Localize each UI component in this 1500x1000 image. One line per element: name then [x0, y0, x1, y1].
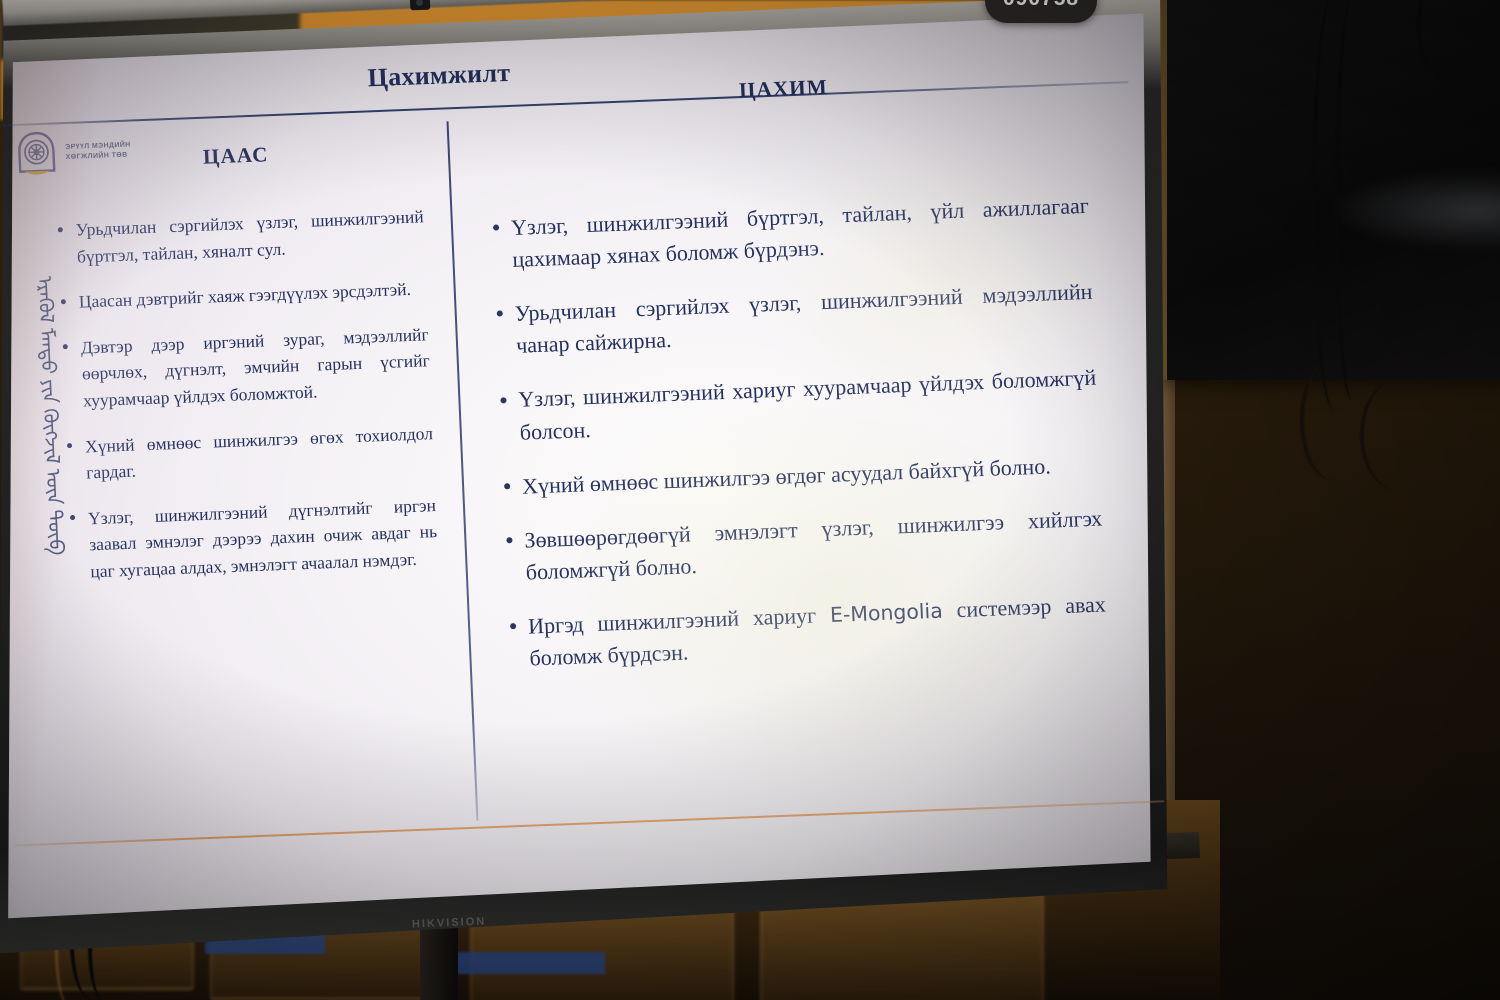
list-item: Зөвшөөрөгдөөгүй эмнэлэгт үзлэг, шинжилгэ…	[502, 502, 1104, 589]
footer-divider	[15, 800, 1164, 846]
list-item: Урьдчилан сэргийлэх үзлэг, шинжилгээний …	[53, 203, 425, 270]
secondary-monitor	[1160, 0, 1500, 380]
column-divider	[447, 121, 479, 820]
list-item: Урьдчилан сэргийлэх үзлэг, шинжилгээний …	[492, 276, 1094, 363]
list-item: Иргэд шинжилгээний хариуг E-Mongolia сис…	[506, 588, 1108, 675]
cable	[1300, 360, 1364, 480]
list-item: Хүний өмнөөс шинжилгээ өгдөг асуудал бай…	[500, 448, 1101, 503]
column-digital: ЦАХИМ Үзлэг, шинжилгээний бүртгэл, тайла…	[485, 111, 1109, 698]
latin-term: E-Mongolia	[830, 599, 944, 627]
screenshot-root: Цахимжилт	[0, 0, 1500, 1000]
cable	[1360, 380, 1434, 490]
list-item: Үзлэг, шинжилгээний хариуг хуурамчаар үй…	[496, 362, 1098, 449]
list-item: Хүний өмнөөс шинжилгээ өгөх тохиолдол га…	[63, 420, 435, 487]
column-heading-digital: ЦАХИМ	[483, 65, 1084, 113]
display-brand-label: HIKVISION	[412, 915, 487, 930]
presentation-slide: Цахимжилт	[12, 29, 1166, 891]
column-paper: ЦААС Урьдчилан сэргийлэх үзлэг, шинжилгэ…	[50, 136, 439, 604]
list-item: Үзлэг, шинжилгээний дүгнэлтийг иргэн заа…	[66, 492, 439, 586]
list-item: Цаасан дэвтрийг хаяж гээгдүүлэх эрсдэлтэ…	[56, 275, 427, 316]
cable	[1335, 0, 1369, 400]
overlay-badge: 090758	[985, 0, 1097, 23]
list-item: Үзлэг, шинжилгээний бүртгэл, тайлан, үйл…	[488, 190, 1090, 277]
bullet-list-paper: Урьдчилан сэргийлэх үзлэг, шинжилгээний …	[53, 203, 438, 585]
bullet-list-digital: Үзлэг, шинжилгээний бүртгэл, тайлан, үйл…	[488, 190, 1107, 676]
interactive-flat-panel[interactable]: Цахимжилт	[0, 0, 1172, 967]
cable	[1417, 0, 1451, 70]
list-item: Дэвтэр дээр иргэний зураг, мэдээллийг өө…	[58, 321, 431, 415]
